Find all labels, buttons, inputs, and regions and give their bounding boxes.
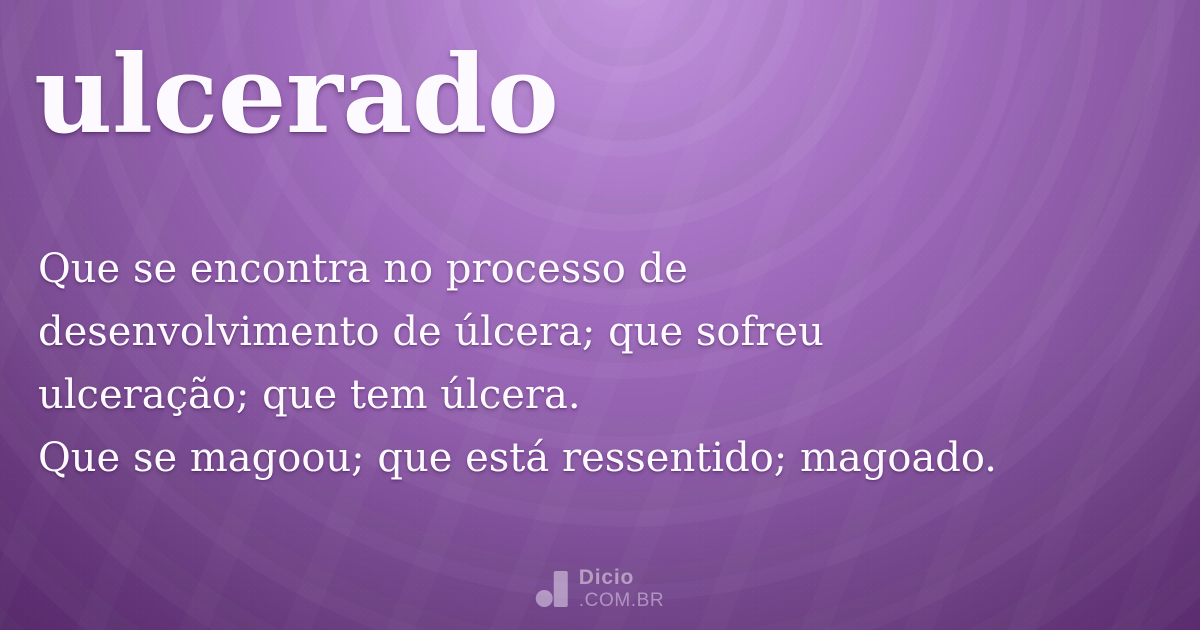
definition-line-3: ulceração; que tem úlcera. bbox=[38, 364, 1168, 427]
definition-line-1: Que se encontra no processo de bbox=[38, 238, 1168, 301]
page-title: ulcerado bbox=[34, 33, 558, 158]
card-content: ulcerado Que se encontra no processo de … bbox=[0, 0, 1200, 630]
logo-circle-shape bbox=[536, 590, 553, 607]
logo-brand-tld: .COM.BR bbox=[579, 591, 664, 610]
dictionary-definition-card: ulcerado Que se encontra no processo de … bbox=[0, 0, 1200, 630]
dicio-logo: Dicio .COM.BR bbox=[536, 567, 664, 610]
definition-line-2: desenvolvimento de úlcera; que sofreu bbox=[38, 301, 1168, 364]
logo-brand-name: Dicio bbox=[579, 567, 664, 588]
dicio-logo-mark-icon bbox=[536, 571, 568, 607]
dicio-logo-text: Dicio .COM.BR bbox=[579, 567, 664, 610]
definition-line-4: Que se magoou; que está ressentido; mago… bbox=[38, 427, 1168, 490]
logo-bar-shape bbox=[554, 571, 568, 607]
definition-text: Que se encontra no processo de desenvolv… bbox=[38, 238, 1168, 490]
